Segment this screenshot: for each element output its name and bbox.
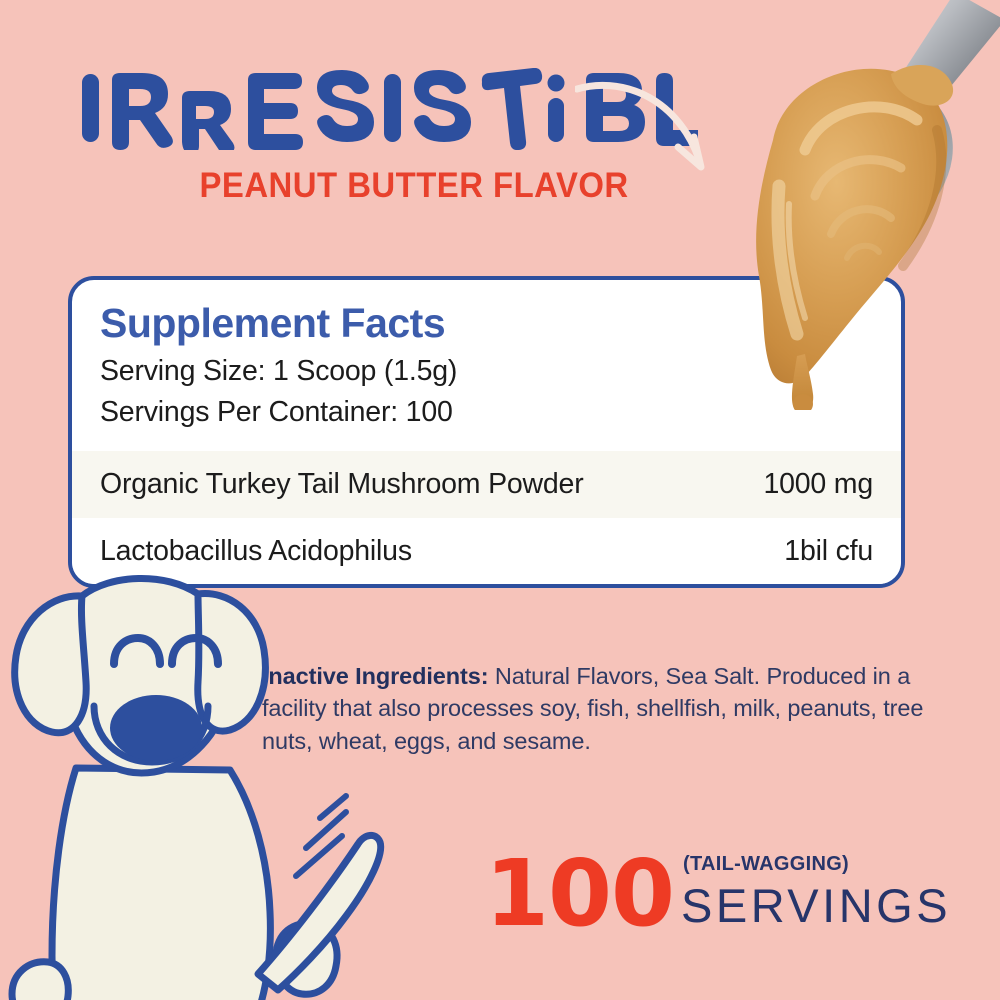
servings-count: 100: [485, 848, 674, 940]
ingredient-name: Organic Turkey Tail Mushroom Powder: [100, 468, 584, 501]
table-row: Organic Turkey Tail Mushroom Powder 1000…: [72, 451, 901, 518]
tail-wagging-qualifier: (TAIL-WAGGING): [683, 853, 849, 876]
servings-label: SERVINGS: [681, 878, 951, 933]
dog-nose: [110, 695, 202, 761]
dog-illustration: [0, 560, 420, 1000]
servings-badge: 100 (TAIL-WAGGING) SERVINGS: [485, 848, 925, 953]
ingredient-amount: 1000 mg: [763, 468, 873, 501]
ingredient-amount: 1bil cfu: [784, 535, 873, 568]
tail-motion-lines: [296, 796, 346, 876]
peanut-butter-spoon-image: [655, 0, 1000, 410]
flavor-subtitle: PEANUT BUTTER FLAVOR: [200, 166, 623, 206]
product-label-canvas: PEANUT BUTTER FLAVOR Supplement Facts Se…: [0, 0, 1000, 1000]
